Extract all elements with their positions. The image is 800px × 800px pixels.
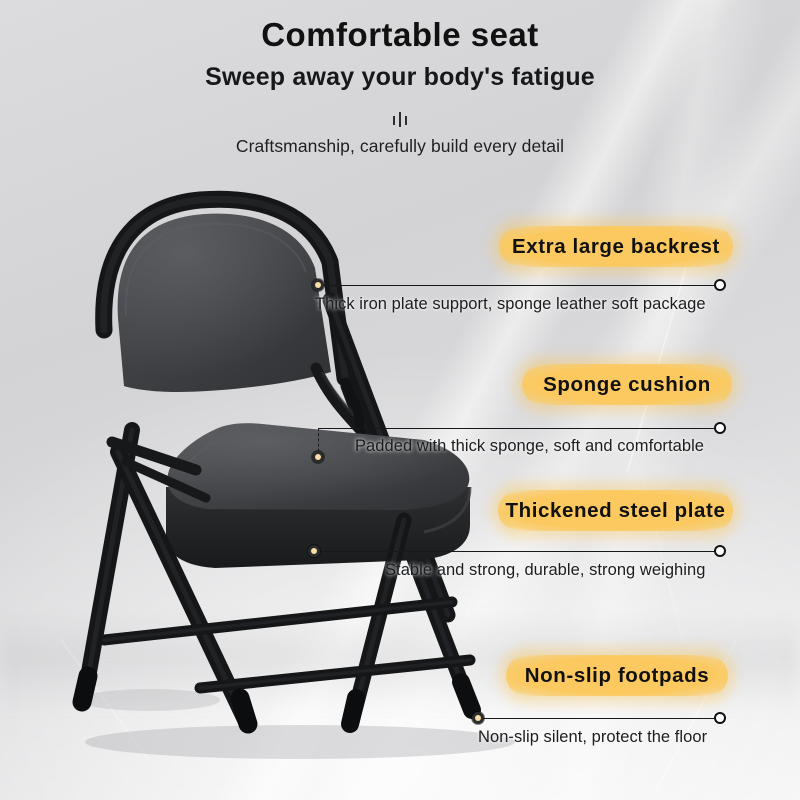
infographic-canvas: Comfortable seat Sweep away your body's … [0, 0, 800, 800]
callout-badge-label: Sponge cushion [543, 373, 711, 397]
backrest-frame [104, 199, 345, 378]
callout-description-steel-plate: Stable and strong, durable, strong weigh… [385, 561, 705, 580]
non-slip-footpad [82, 676, 356, 724]
backrest-panel [118, 214, 331, 392]
callout-badge-footpads[interactable]: Non-slip footpads [506, 655, 728, 696]
callout-description-cushion: Padded with thick sponge, soft and comfo… [355, 437, 704, 456]
callout-source-dot-backrest [312, 279, 324, 291]
callout-badge-cushion[interactable]: Sponge cushion [522, 364, 732, 405]
callout-end-dot-footpads [714, 712, 726, 724]
page-tagline: Craftsmanship, carefully build every det… [0, 136, 800, 157]
page-title: Comfortable seat [0, 17, 800, 54]
callout-badge-label: Extra large backrest [512, 235, 720, 259]
callout-badge-backrest[interactable]: Extra large backrest [499, 226, 733, 267]
callout-source-dot-cushion [312, 451, 324, 463]
callout-badge-steel-plate[interactable]: Thickened steel plate [498, 490, 733, 531]
callout-end-dot-backrest [714, 279, 726, 291]
callout-badge-label: Thickened steel plate [506, 499, 726, 523]
callout-leader-line [478, 718, 720, 719]
three-bars-divider-icon [0, 109, 800, 127]
callout-description-footpads: Non-slip silent, protect the floor [478, 728, 707, 747]
background-vein [451, 600, 471, 719]
callout-badge-label: Non-slip footpads [525, 664, 709, 688]
callout-end-dot-steel-plate [714, 545, 726, 557]
background-vein [60, 639, 150, 762]
callout-leader-line [318, 428, 720, 429]
callout-description-backrest: Thick iron plate support, sponge leather… [315, 295, 706, 314]
rear-legs [330, 300, 472, 710]
callout-leader-line [314, 551, 720, 552]
callout-end-dot-cushion [714, 422, 726, 434]
callout-leader-line [318, 285, 720, 286]
header-block: Comfortable seat Sweep away your body's … [0, 0, 800, 157]
page-subtitle: Sweep away your body's fatigue [0, 63, 800, 92]
callout-source-dot-footpads [472, 712, 484, 724]
callout-source-dot-steel-plate [308, 545, 320, 557]
